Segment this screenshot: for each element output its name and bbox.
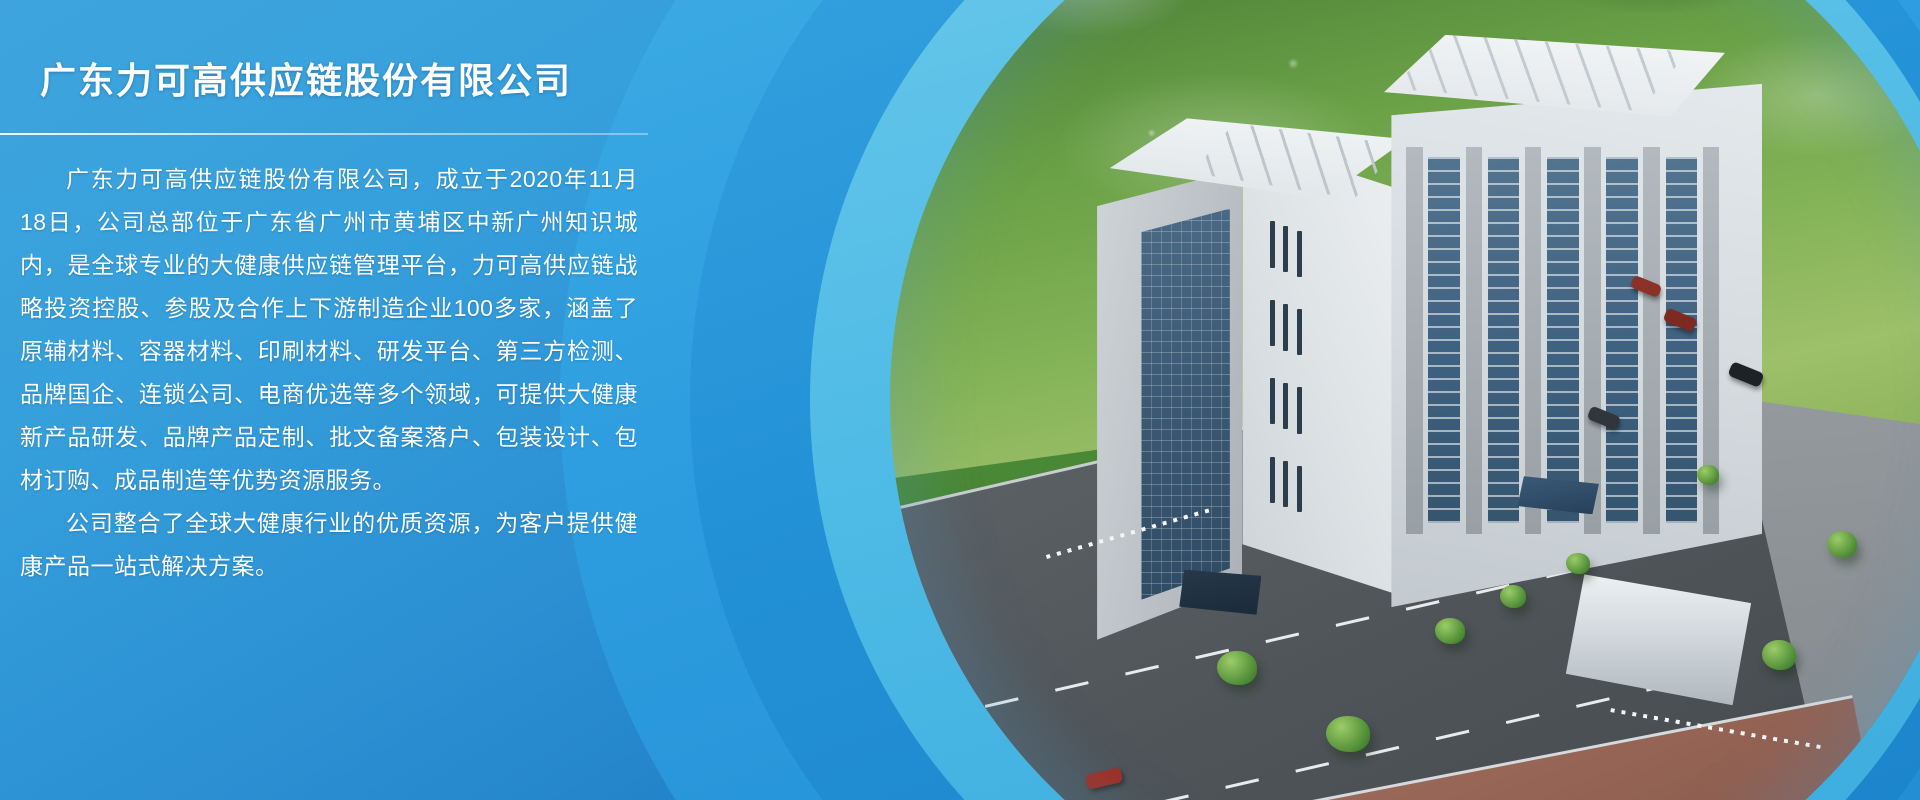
company-description: 广东力可高供应链股份有限公司，成立于2020年11月18日，公司总部位于广东省广…: [20, 158, 638, 588]
curtain-wall-glass: [1141, 209, 1230, 600]
window-slot: [1270, 221, 1275, 267]
window-slot: [1270, 300, 1275, 346]
facade-pier: [1584, 147, 1601, 534]
page-title: 广东力可高供应链股份有限公司: [40, 52, 572, 104]
tree: [1500, 585, 1526, 608]
building-front-facade: [1391, 84, 1762, 607]
window-slot: [1270, 457, 1275, 503]
facade-pier: [1643, 147, 1660, 534]
tree: [1827, 531, 1857, 558]
tree: [1762, 640, 1796, 670]
window-slot: [1297, 387, 1302, 433]
window-band: [1666, 157, 1698, 523]
entrance-canopy: [1179, 570, 1261, 615]
paragraph-2: 公司整合了全球大健康行业的优质资源，为客户提供健康产品一站式解决方案。: [20, 502, 638, 588]
window-slot: [1283, 461, 1288, 507]
window-slot: [1283, 226, 1288, 272]
window-slot: [1283, 304, 1288, 350]
corporate-campus-rendering: [890, 0, 1920, 800]
paragraph-1: 广东力可高供应链股份有限公司，成立于2020年11月18日，公司总部位于广东省广…: [20, 158, 638, 502]
window-band: [1606, 157, 1638, 523]
building-front-facade: [1242, 138, 1413, 599]
window-slot: [1297, 466, 1302, 512]
tree: [1217, 651, 1257, 685]
window-slot: [1270, 378, 1275, 424]
tree: [1566, 553, 1590, 574]
campus-photo-disc: [890, 0, 1920, 800]
window-band: [1488, 157, 1520, 523]
banner-stage: 广东力可高供应链股份有限公司 广东力可高供应链股份有限公司，成立于2020年11…: [0, 0, 1920, 800]
office-building-long: [1391, 62, 1762, 607]
text-panel: 广东力可高供应链股份有限公司 广东力可高供应链股份有限公司，成立于2020年11…: [0, 0, 660, 800]
window-band: [1428, 157, 1460, 523]
facade-pier: [1466, 147, 1483, 534]
facade-pier: [1406, 147, 1423, 534]
window-slot: [1297, 309, 1302, 355]
office-building-tall: [1097, 138, 1413, 639]
tree: [1435, 618, 1465, 644]
window-band: [1547, 157, 1579, 523]
tree: [1326, 716, 1370, 752]
window-slot: [1283, 383, 1288, 429]
window-slot: [1297, 231, 1302, 277]
title-divider: [0, 133, 648, 135]
facade-pier: [1525, 147, 1542, 534]
